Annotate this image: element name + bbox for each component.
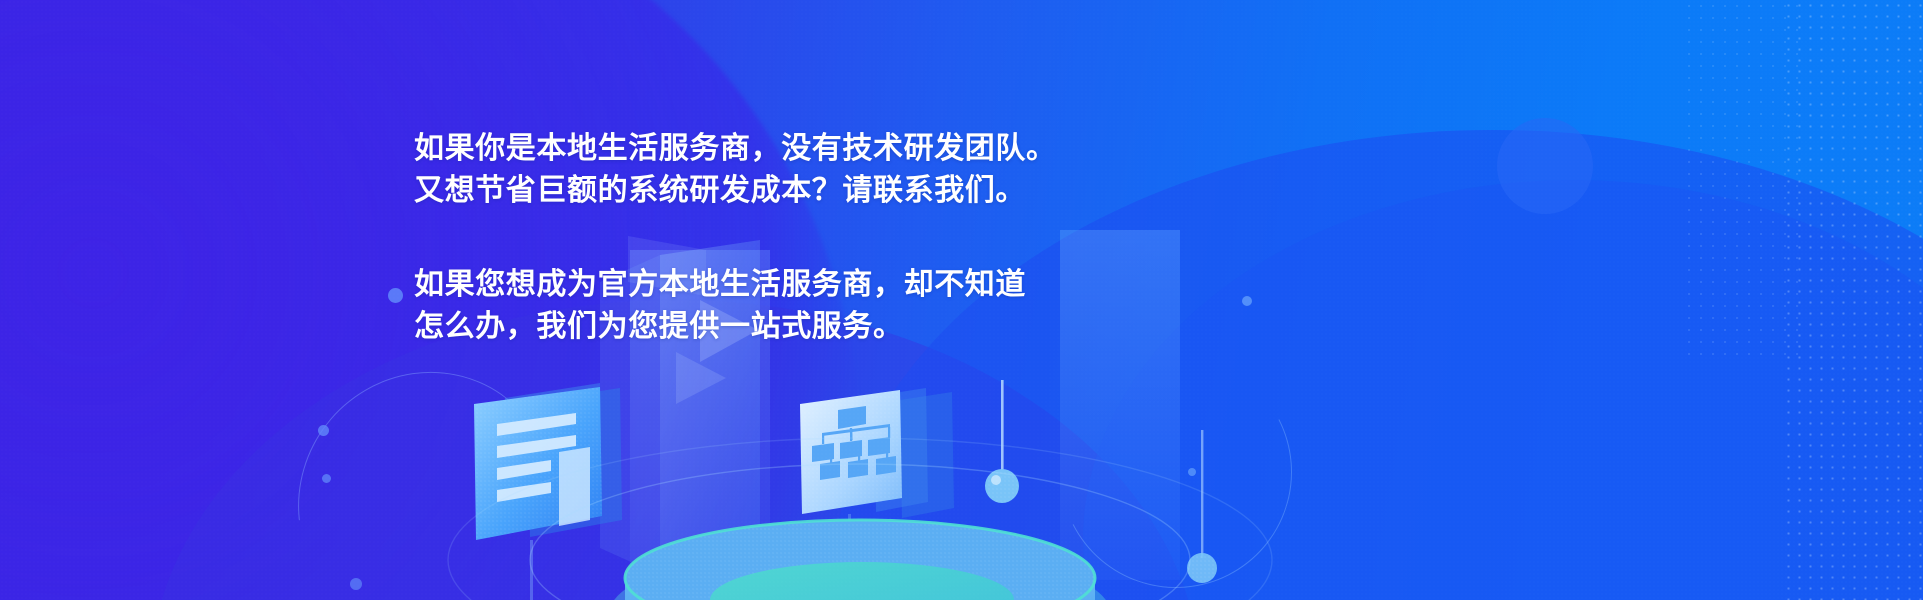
paragraph-2-line-2: 怎么办，我们为您提供一站式服务。 — [414, 306, 1057, 348]
hanging-pendant-icon — [985, 380, 1019, 503]
paragraph-1-line-2: 又想节省巨额的系统研发成本？请联系我们。 — [414, 170, 1057, 212]
promo-banner: 如果你是本地生活服务商，没有技术研发团队。 又想节省巨额的系统研发成本？请联系我… — [0, 0, 1923, 600]
document-card-icon — [474, 383, 622, 600]
banner-copy: 如果你是本地生活服务商，没有技术研发团队。 又想节省巨额的系统研发成本？请联系我… — [414, 128, 1057, 348]
paragraph-1: 如果你是本地生活服务商，没有技术研发团队。 又想节省巨额的系统研发成本？请联系我… — [414, 128, 1057, 212]
hanging-pendant-icon-2 — [1187, 430, 1217, 583]
paragraph-2: 如果您想成为官方本地生活服务商，却不知道 怎么办，我们为您提供一站式服务。 — [414, 264, 1057, 348]
paragraph-2-line-1: 如果您想成为官方本地生活服务商，却不知道 — [414, 264, 1057, 306]
paragraph-1-line-1: 如果你是本地生活服务商，没有技术研发团队。 — [414, 128, 1057, 170]
